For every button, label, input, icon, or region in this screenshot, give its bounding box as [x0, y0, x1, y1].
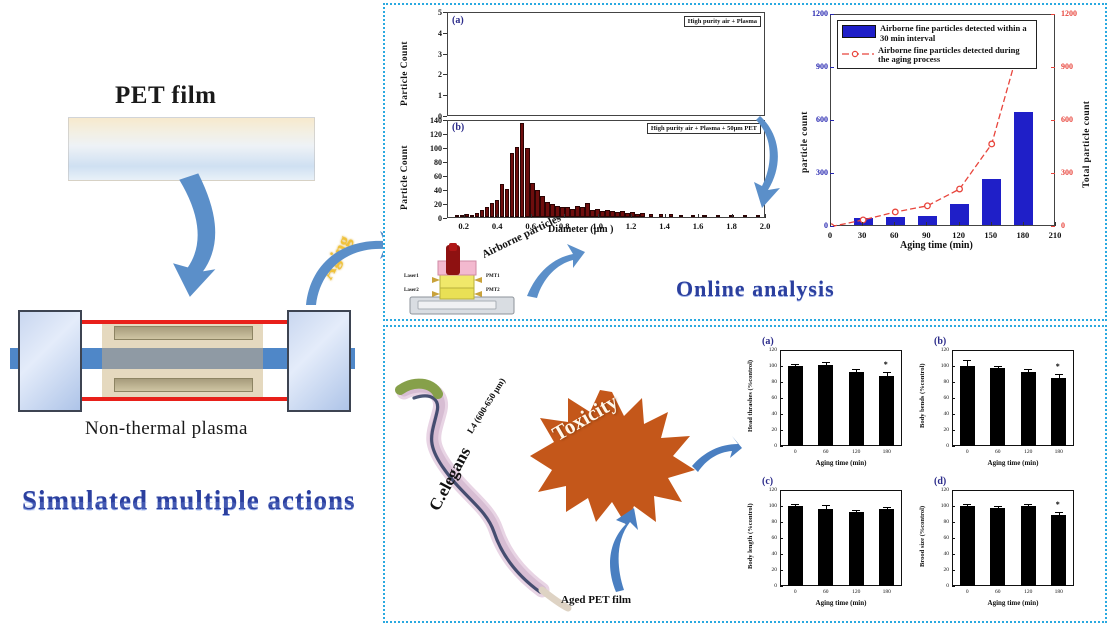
barchart-y2tickmark: [1051, 14, 1055, 15]
tox-xtick: 180: [875, 589, 899, 595]
hist-bar: [610, 211, 615, 217]
tox-ytick: 120: [933, 487, 949, 493]
reactor-flange-left: [18, 310, 82, 412]
histogram-to-barchart-arrow: [754, 112, 804, 212]
hist-bar: [635, 214, 640, 218]
hist-xtick: 1.4: [655, 221, 675, 231]
tox-ytickmark: [952, 554, 955, 555]
tox-xlabel: Aging time (min): [780, 599, 902, 607]
tox-xtick: 0: [955, 449, 979, 455]
tox-ytickmark: [780, 586, 783, 587]
tox-panel-tag: (a): [762, 336, 774, 347]
tox-ytick: 0: [761, 583, 777, 589]
legend-swatch-line: [842, 50, 874, 61]
hist-a-tickmark: [443, 33, 447, 34]
hist-bar: [505, 189, 510, 217]
hv-line-bottom: [76, 397, 291, 401]
tox-ytick: 100: [761, 503, 777, 509]
tox-bar: [818, 365, 833, 446]
tox-bar: [818, 509, 833, 586]
hist-a-ytick: 2: [424, 70, 442, 79]
hist-b-tickmark: [443, 190, 447, 191]
tox-ytickmark: [952, 570, 955, 571]
hist-xtickmark: [564, 214, 565, 218]
tox-ytickmark: [952, 490, 955, 491]
pet-to-reactor-arrow: [140, 170, 270, 305]
tox-ytick: 20: [933, 567, 949, 573]
tox-ytickmark: [952, 522, 955, 523]
hist-bar: [540, 196, 545, 217]
tox-errorbar-cap: [852, 369, 860, 370]
tox-ytickmark: [952, 398, 955, 399]
tox-bar: [879, 376, 894, 446]
tox-ytick: 120: [933, 347, 949, 353]
hist-xtick: 2.0: [755, 221, 775, 231]
hist-bar: [570, 209, 575, 217]
pmt1-label: PMT1: [486, 274, 500, 279]
tox-ytickmark: [780, 350, 783, 351]
hist-xtickmark: [732, 214, 733, 218]
hist-bar: [702, 215, 707, 217]
barchart-ytickmark: [830, 14, 834, 15]
barchart-xtick: 0: [818, 230, 842, 240]
hist-b-ytick: 100: [420, 144, 442, 153]
tox-xtick: 60: [814, 449, 838, 455]
hist-a-ytick: 1: [424, 91, 442, 100]
online-analysis-title: Online analysis: [676, 276, 835, 302]
tox-ytickmark: [952, 414, 955, 415]
tox-errorbar-cap: [963, 360, 971, 361]
tox-ytickmark: [780, 522, 783, 523]
tox-ytick: 100: [761, 363, 777, 369]
tox-errorbar-cap: [1024, 504, 1032, 505]
barchart-ytickmark: [830, 67, 834, 68]
tox-ytickmark: [780, 554, 783, 555]
tox-xtick: 120: [1016, 589, 1040, 595]
legend-label-bar: Airborne fine particles detected within …: [880, 24, 1032, 44]
hist-bar: [756, 215, 761, 217]
tox-ytick: 60: [761, 535, 777, 541]
tox-bar: [1051, 515, 1066, 586]
tox-ytickmark: [780, 490, 783, 491]
tox-ytickmark: [780, 430, 783, 431]
aging-trend-marker: [989, 141, 995, 147]
tox-ytickmark: [780, 538, 783, 539]
tox-ytickmark: [952, 430, 955, 431]
hist-a-tag: (a): [452, 15, 464, 26]
hist-b-ytick: 80: [420, 158, 442, 167]
barchart-ytickmark: [830, 120, 834, 121]
particle-size-histogram: Particle Count Particle Count Diameter (…: [398, 8, 770, 240]
hist-b-tickmark: [443, 204, 447, 205]
reactor-flange-right: [287, 310, 351, 412]
tox-ytick: 60: [761, 395, 777, 401]
hist-b-tickmark: [443, 162, 447, 163]
tox-ytick: 40: [933, 551, 949, 557]
legend-label-line: Airborne fine particles detected during …: [878, 46, 1032, 66]
hist-xtick: 0.4: [487, 221, 507, 231]
hist-b-tickmark: [443, 120, 447, 121]
hist-xtick: 0.2: [454, 221, 474, 231]
hist-bar: [580, 207, 585, 217]
aging-trend-marker: [925, 203, 931, 209]
tox-ytickmark: [952, 538, 955, 539]
barchart-y2tick: 1200: [1061, 9, 1077, 18]
hist-a-tickmark: [443, 12, 447, 13]
tox-xtick: 60: [814, 589, 838, 595]
hist-bar: [565, 207, 570, 218]
hist-a-ylabel: Particle Count: [400, 14, 410, 106]
barchart-xtick: 210: [1043, 230, 1067, 240]
barchart-y2tickmark: [1051, 226, 1055, 227]
tox-ytick: 100: [933, 363, 949, 369]
tox-bar: [1051, 378, 1066, 446]
tox-ytickmark: [780, 398, 783, 399]
hist-bar: [743, 215, 748, 217]
tox-errorbar-cap: [791, 504, 799, 505]
tox-errorbar-cap: [822, 505, 830, 506]
hist-bar: [490, 203, 495, 217]
hist-bar: [545, 202, 550, 217]
tox-ytickmark: [780, 414, 783, 415]
hist-bar: [485, 207, 490, 217]
hist-bar: [716, 215, 721, 217]
hist-a-tickmark: [443, 95, 447, 96]
tox-ytick: 20: [761, 427, 777, 433]
tox-ytick: 0: [761, 443, 777, 449]
tox-significance-marker: *: [884, 360, 888, 369]
aged-pet-film-label: Aged PET film: [561, 594, 631, 606]
hist-bar: [585, 203, 590, 217]
hist-xtickmark: [765, 214, 766, 218]
barchart-xtick: 60: [882, 230, 906, 240]
hist-b-ylabel: Particle Count: [400, 118, 410, 210]
hist-bar: [625, 213, 630, 217]
tox-bar: [960, 366, 975, 446]
tox-bar: [788, 366, 803, 446]
tox-ytick: 20: [761, 567, 777, 573]
hist-xtickmark: [598, 214, 599, 218]
tox-ytickmark: [780, 506, 783, 507]
tox-ytick: 60: [933, 395, 949, 401]
tox-errorbar-cap: [1055, 512, 1063, 513]
hist-b-ytick: 40: [420, 186, 442, 195]
hist-xtick: 1.6: [688, 221, 708, 231]
hist-bar: [455, 215, 460, 217]
tox-ylabel: Head thrashes (%control): [747, 348, 754, 444]
barchart-xtickmark: [1055, 222, 1056, 226]
barchart-xtick: 120: [947, 230, 971, 240]
tox-xlabel: Aging time (min): [952, 459, 1074, 467]
hist-xtickmark: [631, 214, 632, 218]
hist-bar: [669, 214, 674, 217]
hist-bar: [640, 213, 645, 217]
tox-significance-marker: *: [1056, 362, 1060, 371]
tox-ylabel: Body bends (%control): [919, 348, 926, 444]
aging-trend-marker: [957, 186, 963, 192]
hist-bar: [691, 215, 696, 217]
tox-xtick: 180: [875, 449, 899, 455]
hist-bar: [679, 215, 684, 217]
laser2-label: Laser2: [404, 288, 419, 293]
tox-errorbar-cap: [852, 510, 860, 511]
hist-a-ytick: 4: [424, 29, 442, 38]
hv-line-top: [76, 320, 291, 324]
tox-errorbar-cap: [994, 366, 1002, 367]
hist-bar: [600, 211, 605, 217]
hist-a-ytick: 3: [424, 50, 442, 59]
tox-ytick: 80: [933, 379, 949, 385]
hist-bar: [515, 147, 520, 217]
hist-bar: [500, 184, 505, 217]
hist-bar: [480, 210, 485, 217]
hist-b-bars: [448, 121, 764, 217]
hist-a-tickmark: [443, 54, 447, 55]
aging-particle-chart: Airborne fine particles detected within …: [800, 8, 1100, 253]
tox-bar: [849, 512, 864, 586]
tox-ytickmark: [952, 366, 955, 367]
tox-bar: [879, 509, 894, 586]
tox-xlabel: Aging time (min): [780, 459, 902, 467]
tox-errorbar-cap: [1024, 369, 1032, 370]
hist-bar: [590, 210, 595, 217]
tox-bar: [1021, 506, 1036, 586]
tox-ytickmark: [952, 446, 955, 447]
tox-ytick: 20: [933, 427, 949, 433]
tox-errorbar-cap: [963, 504, 971, 505]
hist-xtick: 1.2: [621, 221, 641, 231]
tox-panel-tag: (c): [762, 476, 773, 487]
hist-xtickmark: [464, 214, 465, 218]
hist-bar: [575, 206, 580, 217]
barchart-ytickmark: [830, 173, 834, 174]
electrode-top: [114, 326, 253, 340]
tox-ytick: 0: [933, 583, 949, 589]
tox-xtick: 0: [955, 589, 979, 595]
pmt2-label: PMT2: [486, 288, 500, 293]
barchart-ytick: 1200: [806, 9, 828, 18]
hist-bar: [659, 214, 664, 218]
barchart-xtickmark: [991, 222, 992, 226]
barchart-ytick: 0: [806, 221, 828, 230]
hist-a-tickmark: [443, 116, 447, 117]
hist-bar: [475, 213, 480, 217]
pet-film-title: PET film: [115, 82, 216, 110]
tox-chart-d: (d)Brood size (%control)0204060801001200…: [920, 478, 1082, 616]
plasma-caption: Non-thermal plasma: [85, 418, 248, 440]
hist-b-ytick: 20: [420, 200, 442, 209]
hist-bar: [465, 214, 470, 217]
hist-xtick: 1.0: [588, 221, 608, 231]
tox-ytickmark: [952, 506, 955, 507]
detector-to-histogram-arrow: [523, 238, 587, 300]
barchart-plot: Airborne fine particles detected within …: [830, 14, 1055, 226]
tox-bar: [788, 506, 803, 586]
hist-bar: [615, 212, 620, 217]
barchart-y2label: Total particle count: [1082, 53, 1092, 188]
tox-ytick: 40: [933, 411, 949, 417]
tox-errorbar-cap: [1055, 374, 1063, 375]
tox-xtick: 120: [844, 449, 868, 455]
tox-ylabel: Body length (%control): [747, 488, 754, 584]
hist-xtickmark: [497, 214, 498, 218]
hist-bar: [510, 153, 515, 217]
tox-ytick: 80: [761, 519, 777, 525]
tox-xtick: 60: [986, 449, 1010, 455]
hist-xtickmark: [531, 214, 532, 218]
tox-ytick: 0: [933, 443, 949, 449]
tox-xtick: 0: [783, 589, 807, 595]
hist-b-ytick: 0: [420, 214, 442, 223]
tox-chart-a: (a)Head thrashes (%control)0204060801001…: [748, 338, 910, 476]
hist-bar: [535, 190, 540, 217]
laser1-label: Laser1: [404, 274, 419, 279]
hist-a-ytick: 5: [424, 8, 442, 17]
tox-xtick: 60: [986, 589, 1010, 595]
barchart-y2tick: 600: [1061, 115, 1073, 124]
hist-b-ytick: 120: [420, 130, 442, 139]
simulated-actions-reflection: Simulated multiple actions: [22, 499, 356, 513]
hist-b-tickmark: [443, 148, 447, 149]
barchart-y2tickmark: [1051, 67, 1055, 68]
hist-bar: [649, 214, 654, 217]
tox-panel-tag: (d): [934, 476, 946, 487]
hist-b-tickmark: [443, 218, 447, 219]
barchart-xtickmark: [1023, 222, 1024, 226]
tox-bar: [960, 506, 975, 586]
barchart-xtickmark: [959, 222, 960, 226]
hist-a-tickmark: [443, 74, 447, 75]
hist-b-tickmark: [443, 134, 447, 135]
hist-bar: [525, 148, 530, 217]
barchart-y2tickmark: [1051, 173, 1055, 174]
tox-ylabel: Brood size (%control): [919, 488, 926, 584]
hist-a-plot: (a) High purity air + Plasma: [447, 12, 765, 116]
hist-b-ytick: 140: [420, 116, 442, 125]
tox-errorbar-cap: [883, 372, 891, 373]
tox-xtick: 0: [783, 449, 807, 455]
legend-swatch-bar: [842, 25, 876, 38]
barchart-xlabel: Aging time (min): [900, 240, 973, 251]
tox-panel-tag: (b): [934, 336, 946, 347]
electrode-bottom: [114, 378, 253, 392]
tox-ytick: 100: [933, 503, 949, 509]
tox-chart-b: (b)Body bends (%control)0204060801001200…: [920, 338, 1082, 476]
tox-ytick: 60: [933, 535, 949, 541]
tox-ytickmark: [780, 382, 783, 383]
tox-ytick: 40: [761, 551, 777, 557]
tox-significance-marker: *: [1056, 500, 1060, 509]
barchart-y2tick: 300: [1061, 168, 1073, 177]
barchart-xtickmark: [894, 222, 895, 226]
tox-bar: [1021, 372, 1036, 446]
discharge-gap: [102, 348, 263, 369]
aged-pet-to-toxicity-arrow: [598, 508, 658, 594]
barchart-legend: Airborne fine particles detected within …: [837, 20, 1037, 69]
tox-ytickmark: [952, 350, 955, 351]
tox-xlabel: Aging time (min): [952, 599, 1074, 607]
hist-xtickmark: [665, 214, 666, 218]
tox-errorbar-cap: [822, 362, 830, 363]
barchart-ylabel: particle count: [800, 68, 810, 173]
tox-ytick: 80: [933, 519, 949, 525]
hist-bar: [605, 210, 610, 217]
hist-a-condition: High purity air + Plasma: [684, 16, 761, 27]
toxicity-to-charts-arrow: [690, 432, 742, 478]
tox-bar: [990, 508, 1005, 586]
barchart-xtickmark: [926, 222, 927, 226]
barchart-y2tick: 0: [1061, 221, 1065, 230]
tox-bar: [990, 368, 1005, 446]
barchart-y2tickmark: [1051, 120, 1055, 121]
tox-ytick: 40: [761, 411, 777, 417]
tox-xtick: 120: [1016, 449, 1040, 455]
tox-ytick: 120: [761, 347, 777, 353]
plasma-reactor-diagram: [10, 290, 355, 405]
hist-bar: [520, 123, 525, 218]
barchart-xtick: 180: [1011, 230, 1035, 240]
barchart-xtick: 30: [850, 230, 874, 240]
hist-bar: [530, 183, 535, 217]
tox-xtick: 180: [1047, 589, 1071, 595]
tox-errorbar-cap: [791, 364, 799, 365]
hist-b-plot: (b) High purity air + Plasma + 50μm PET: [447, 120, 765, 218]
tox-xtick: 180: [1047, 449, 1071, 455]
tox-ytickmark: [780, 446, 783, 447]
tox-ytickmark: [952, 586, 955, 587]
tox-bar: [849, 372, 864, 446]
tox-ytickmark: [780, 570, 783, 571]
hist-bar: [470, 215, 475, 217]
tox-ytickmark: [780, 366, 783, 367]
tox-errorbar-cap: [883, 507, 891, 508]
tox-ytick: 120: [761, 487, 777, 493]
hist-xtick: 1.8: [722, 221, 742, 231]
barchart-ytickmark: [830, 226, 834, 227]
hist-b-tickmark: [443, 176, 447, 177]
tox-chart-c: (c)Body length (%control)020406080100120…: [748, 478, 910, 616]
tox-ytickmark: [952, 382, 955, 383]
tox-ytick: 80: [761, 379, 777, 385]
particle-detector-diagram: Laser1 Laser2 PMT1 PMT2: [402, 243, 532, 318]
barchart-xtickmark: [862, 222, 863, 226]
barchart-xtick: 150: [979, 230, 1003, 240]
barchart-xtickmark: [830, 222, 831, 226]
tox-xtick: 120: [844, 589, 868, 595]
aging-trend-marker: [892, 209, 898, 215]
hist-b-ytick: 60: [420, 172, 442, 181]
tox-errorbar-cap: [994, 506, 1002, 507]
hist-bar: [620, 211, 625, 217]
barchart-y2tick: 900: [1061, 62, 1073, 71]
hist-xtickmark: [698, 214, 699, 218]
barchart-xtick: 90: [914, 230, 938, 240]
